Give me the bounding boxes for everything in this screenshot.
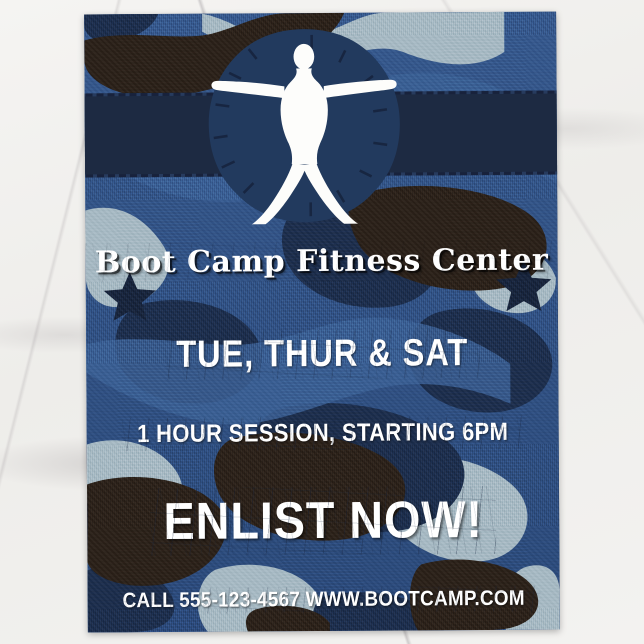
flyer-session-text: 1 HOUR SESSION, STARTING 6PM xyxy=(137,418,508,449)
flyer-days: TUE, THUR & SAT xyxy=(119,332,525,377)
flyer-contact: CALL 555-123-4567 WWW.BOOTCAMP.COM xyxy=(111,587,536,614)
vitruvian-fitness-figure-icon xyxy=(208,28,400,224)
flyer-document: Boot Camp Fitness Center TUE, THUR & SAT… xyxy=(84,12,560,633)
fitness-emblem xyxy=(205,27,403,225)
flyer-title: Boot Camp Fitness Center xyxy=(86,243,558,281)
flyer-session: 1 HOUR SESSION, STARTING 6PM xyxy=(115,418,531,450)
flyer-contact-text: CALL 555-123-4567 WWW.BOOTCAMP.COM xyxy=(122,587,524,613)
flyer-days-text: TUE, THUR & SAT xyxy=(176,332,468,377)
flyer-title-text: Boot Camp Fitness Center xyxy=(95,243,549,281)
flyer-call-to-action: ENLIST NOW! xyxy=(111,490,536,553)
flyer-cta-text: ENLIST NOW! xyxy=(163,490,483,552)
